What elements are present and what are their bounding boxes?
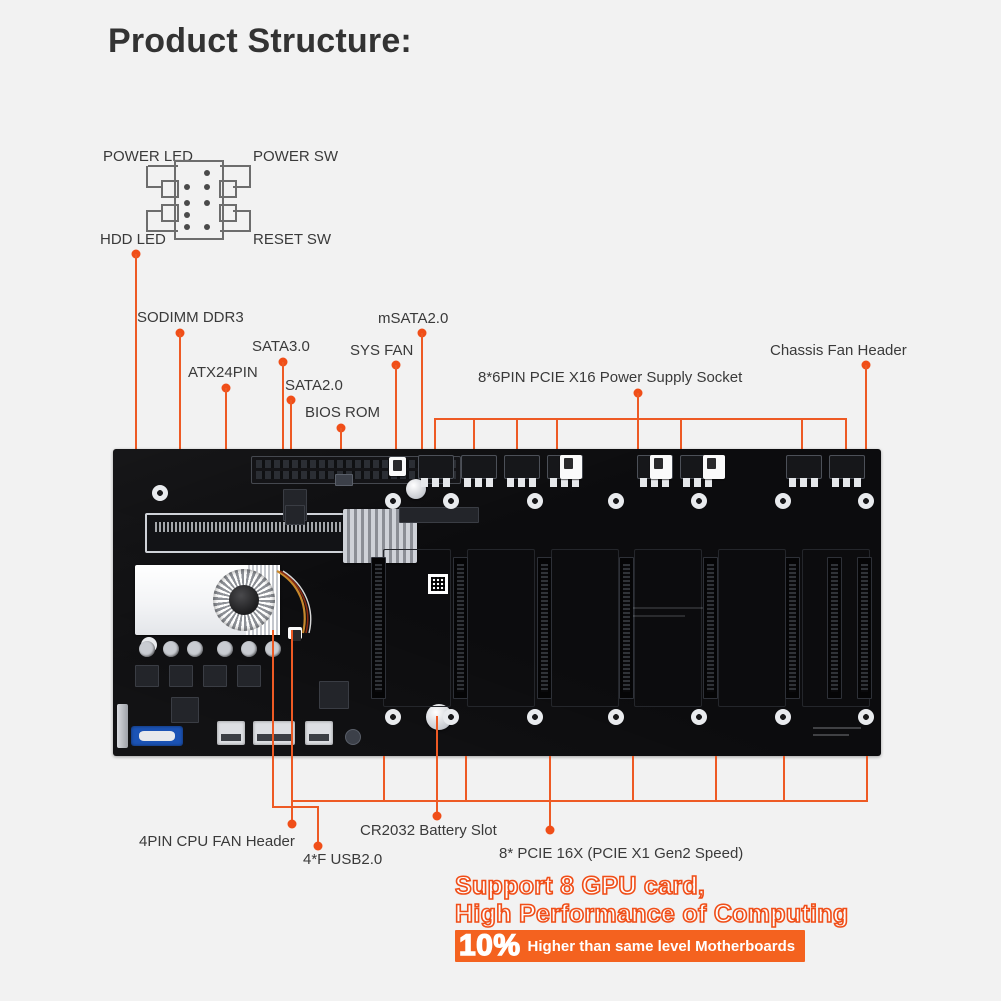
chassis-fan-header (560, 455, 582, 479)
usb-port (253, 721, 295, 745)
silkscreen (813, 727, 861, 729)
front-panel-header-schematic (150, 160, 250, 236)
silkscreen (633, 607, 703, 609)
pcie-x16-slot (453, 557, 468, 699)
mounting-hole (527, 493, 543, 509)
pcie-x16-slot (537, 557, 552, 699)
callout-label-sata3: SATA3.0 (252, 338, 310, 355)
wire-reset-sw-bottom (220, 230, 251, 232)
leader-dot-usb (314, 842, 323, 851)
pcie-x16-slot (857, 557, 872, 699)
mosfet (237, 665, 261, 687)
motherboard-image (113, 449, 881, 756)
wire-power-led (146, 186, 162, 188)
mounting-hole (385, 709, 401, 725)
pcie-power-connector (829, 455, 865, 479)
leader-drop-pcie-5 (715, 756, 717, 802)
pcie-slot-outline (718, 549, 786, 707)
io-bracket (117, 704, 128, 748)
leader-line-usb-stem (272, 630, 274, 808)
callout-label-sysfan: SYS FAN (350, 342, 413, 359)
usb-port (305, 721, 333, 745)
leader-line-sysfan (395, 365, 397, 460)
page-title: Product Structure: (108, 22, 412, 61)
mounting-hole (443, 709, 459, 725)
pcie-power-connector (504, 455, 540, 479)
capacitor (187, 641, 203, 657)
wire-hdd-led (146, 210, 162, 212)
leader-drop-usb (317, 806, 319, 846)
pcie-power-connector (461, 455, 497, 479)
pcie-power-connector (418, 455, 454, 479)
msata-slot (399, 507, 479, 523)
pcie-slot-outline (551, 549, 619, 707)
wire-hdd-led-riser (146, 210, 148, 232)
chassis-fan-header (703, 455, 725, 479)
mounting-hole (858, 709, 874, 725)
fan-cable (273, 569, 353, 649)
capacitor (217, 641, 233, 657)
mounting-hole (608, 493, 624, 509)
mounting-hole (608, 709, 624, 725)
promo-subtitle: Higher than same level Motherboards (528, 938, 796, 955)
promo-block: Support 8 GPU card, High Performance of … (455, 872, 875, 962)
leader-line-front-panel (135, 254, 137, 454)
header-body (174, 160, 224, 240)
header-tab-left-lower (161, 204, 179, 222)
mounting-hole (385, 493, 401, 509)
capacitor (241, 641, 257, 657)
cpu-cooler (135, 565, 280, 635)
promo-line-2: High Performance of Computing (455, 900, 875, 928)
leader-bracket-pcie-power (434, 418, 846, 420)
mounting-hole (443, 493, 459, 509)
bios-rom-chip (335, 474, 353, 486)
callout-label-msata: mSATA2.0 (378, 310, 448, 327)
sata2-port (285, 505, 305, 525)
leader-dot-cpu-fan (288, 820, 297, 829)
header-pin (184, 212, 190, 218)
callout-label-sodimm: SODIMM DDR3 (137, 309, 244, 326)
usb-port (217, 721, 245, 745)
header-tab-right-lower (219, 204, 237, 222)
wire-reset-sw-riser (249, 210, 251, 232)
leader-drop-pcie-3 (549, 756, 551, 802)
header-tab-left-upper (161, 180, 179, 198)
cpu-fan (213, 569, 275, 631)
sodimm-ddr3-slot (145, 513, 363, 553)
header-pin (184, 200, 190, 206)
vga-port (131, 726, 183, 746)
super-io-chip (319, 681, 349, 709)
pcie-slot-outline (467, 549, 535, 707)
mounting-hole (691, 709, 707, 725)
wire-power-sw-top (220, 165, 251, 167)
capacitor (163, 641, 179, 657)
callout-label-usb: 4*F USB2.0 (303, 851, 382, 868)
header-pin (204, 170, 210, 176)
pcie-x16-slot (785, 557, 800, 699)
capacitor (139, 641, 155, 657)
mounting-hole (527, 709, 543, 725)
leader-dot-battery (433, 812, 442, 821)
callout-label-pcie: 8* PCIE 16X (PCIE X1 Gen2 Speed) (499, 845, 743, 862)
io-controller-chip (171, 697, 199, 723)
callout-label-sata2: SATA2.0 (285, 377, 343, 394)
leader-drop-pcie-6 (783, 756, 785, 802)
promo-banner: 10% Higher than same level Motherboards (455, 930, 805, 962)
header-pin (204, 200, 210, 206)
leader-drop-pcie-1 (383, 756, 385, 802)
leader-dot-pcie (546, 826, 555, 835)
silkscreen (813, 734, 849, 736)
mosfet (135, 665, 159, 687)
mounting-hole (775, 709, 791, 725)
callout-label-chassis-fan: Chassis Fan Header (770, 342, 907, 359)
leader-drop-pcie-4 (632, 756, 634, 802)
callout-label-atx24pin: ATX24PIN (188, 364, 258, 381)
pcie-slot-outline (383, 549, 451, 707)
wire-hdd-led-bottom (148, 230, 178, 232)
label-reset-sw: RESET SW (253, 231, 331, 248)
header-pin (184, 224, 190, 230)
mounting-hole (775, 493, 791, 509)
label-power-sw: POWER SW (253, 148, 338, 165)
pcie-x16-slot (371, 557, 386, 699)
pcie-x16-slot (703, 557, 718, 699)
pcie-slot-outline (634, 549, 702, 707)
mounting-hole (858, 493, 874, 509)
mounting-hole (691, 493, 707, 509)
callout-label-bios: BIOS ROM (305, 404, 380, 421)
silkscreen (633, 615, 685, 617)
leader-drop-pcie-7 (866, 756, 868, 802)
wire-power-led-top (148, 165, 178, 167)
promo-percent: 10% (459, 931, 528, 961)
header-pin (204, 184, 210, 190)
header-tab-right-upper (219, 180, 237, 198)
pcie-x16-slot (619, 557, 634, 699)
leader-elbow-usb (272, 806, 318, 808)
mounting-hole (152, 485, 168, 501)
leader-drop-pcie-2 (465, 756, 467, 802)
leader-bracket-pcie (291, 800, 867, 802)
pcie-power-connector (786, 455, 822, 479)
callout-label-battery: CR2032 Battery Slot (360, 822, 497, 839)
mosfet (169, 665, 193, 687)
audio-jack (345, 729, 361, 745)
header-pin (204, 224, 210, 230)
wire-power-led-riser (146, 166, 148, 188)
callout-label-pcie-power: 8*6PIN PCIE X16 Power Supply Socket (478, 369, 742, 386)
mosfet (203, 665, 227, 687)
wire-power-sw-riser (249, 165, 251, 188)
header-pin (184, 184, 190, 190)
leader-line-cpu-fan (291, 630, 293, 824)
chassis-fan-header (650, 455, 672, 479)
promo-line-1: Support 8 GPU card, (455, 872, 875, 900)
product-structure-diagram: Product Structure: POWER LED POWER SW HD… (0, 0, 1001, 1001)
callout-label-cpu-fan: 4PIN CPU FAN Header (139, 833, 295, 850)
leader-line-msata (421, 333, 423, 463)
pcie-x16-slot (827, 557, 842, 699)
sys-fan-header (389, 457, 406, 476)
